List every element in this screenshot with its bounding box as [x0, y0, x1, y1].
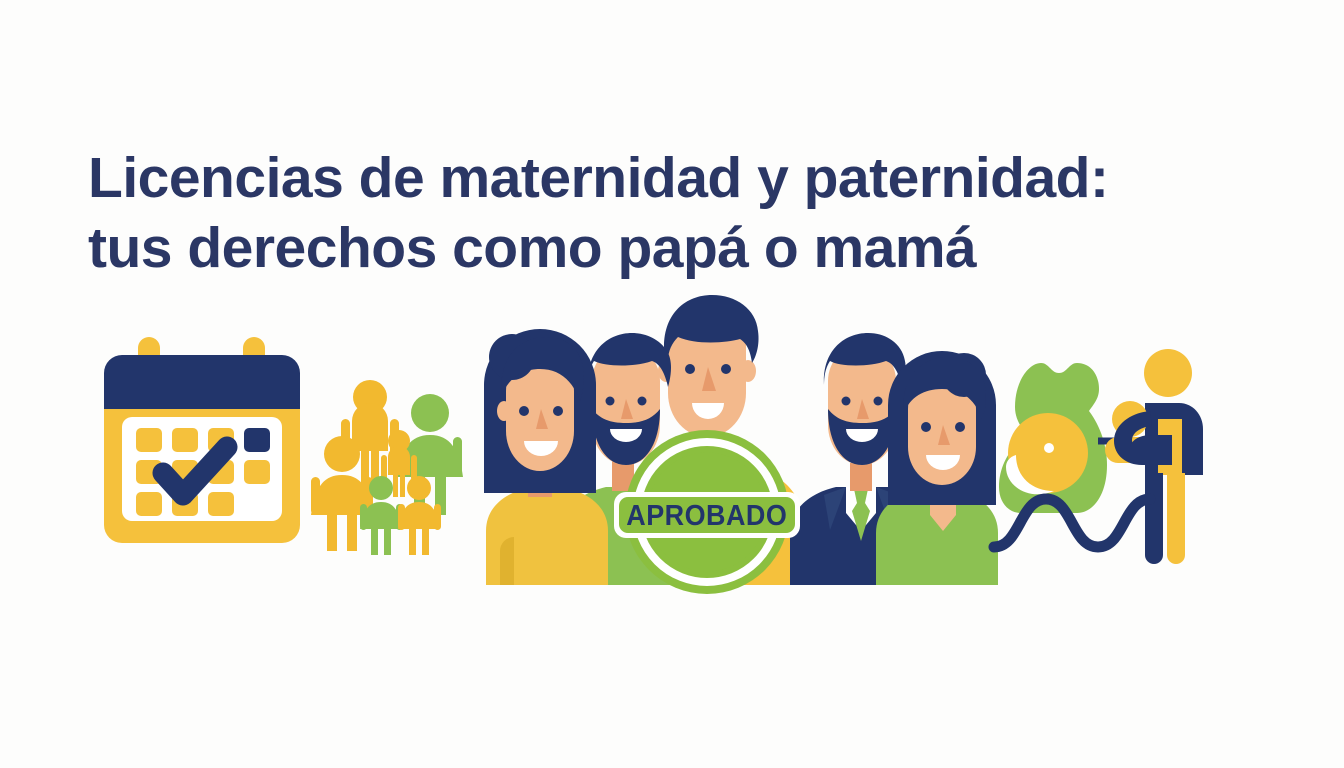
illustration-stage: APROBADO — [0, 285, 1344, 595]
woman-left-ear — [497, 401, 511, 421]
calendar-day-highlight — [244, 428, 270, 452]
bearded-left-eye-right — [638, 397, 647, 406]
bearded-left-eye-left — [606, 397, 615, 406]
person-woman-left — [484, 329, 608, 585]
man-center-ear-right — [740, 360, 756, 382]
person-woman-right — [876, 351, 998, 585]
badge-label: APROBADO — [626, 499, 787, 531]
title-line-1: Licencias de maternidad y paternidad: — [88, 143, 1208, 213]
woman-left-arm — [500, 537, 514, 585]
calendar-header — [104, 355, 300, 409]
pregnancy-navel — [1044, 443, 1054, 453]
bearded-right-eye-right — [874, 397, 883, 406]
calendar-icon — [104, 337, 300, 543]
woman-left-eye-left — [519, 406, 529, 416]
family-pictograms — [311, 380, 463, 555]
man-center-eye-right — [721, 364, 731, 374]
woman-right-eye-left — [921, 422, 931, 432]
illustration-svg: APROBADO — [0, 285, 1344, 595]
title-line-2: tus derechos como papá o mamá — [88, 213, 1208, 283]
parent-leg-navy — [1145, 473, 1163, 564]
woman-left-eye-right — [553, 406, 563, 416]
page-title: Licencias de maternidad y paternidad: tu… — [88, 143, 1208, 283]
parent-head — [1144, 349, 1192, 397]
bearded-right-neck — [850, 463, 872, 491]
banner-root: Licencias de maternidad y paternidad: tu… — [0, 0, 1344, 768]
woman-right-eye-right — [955, 422, 965, 432]
pregnancy-icon — [999, 363, 1131, 513]
parent-leg-yellow — [1167, 473, 1185, 564]
bearded-right-eye-left — [842, 397, 851, 406]
man-center-eye-left — [685, 364, 695, 374]
